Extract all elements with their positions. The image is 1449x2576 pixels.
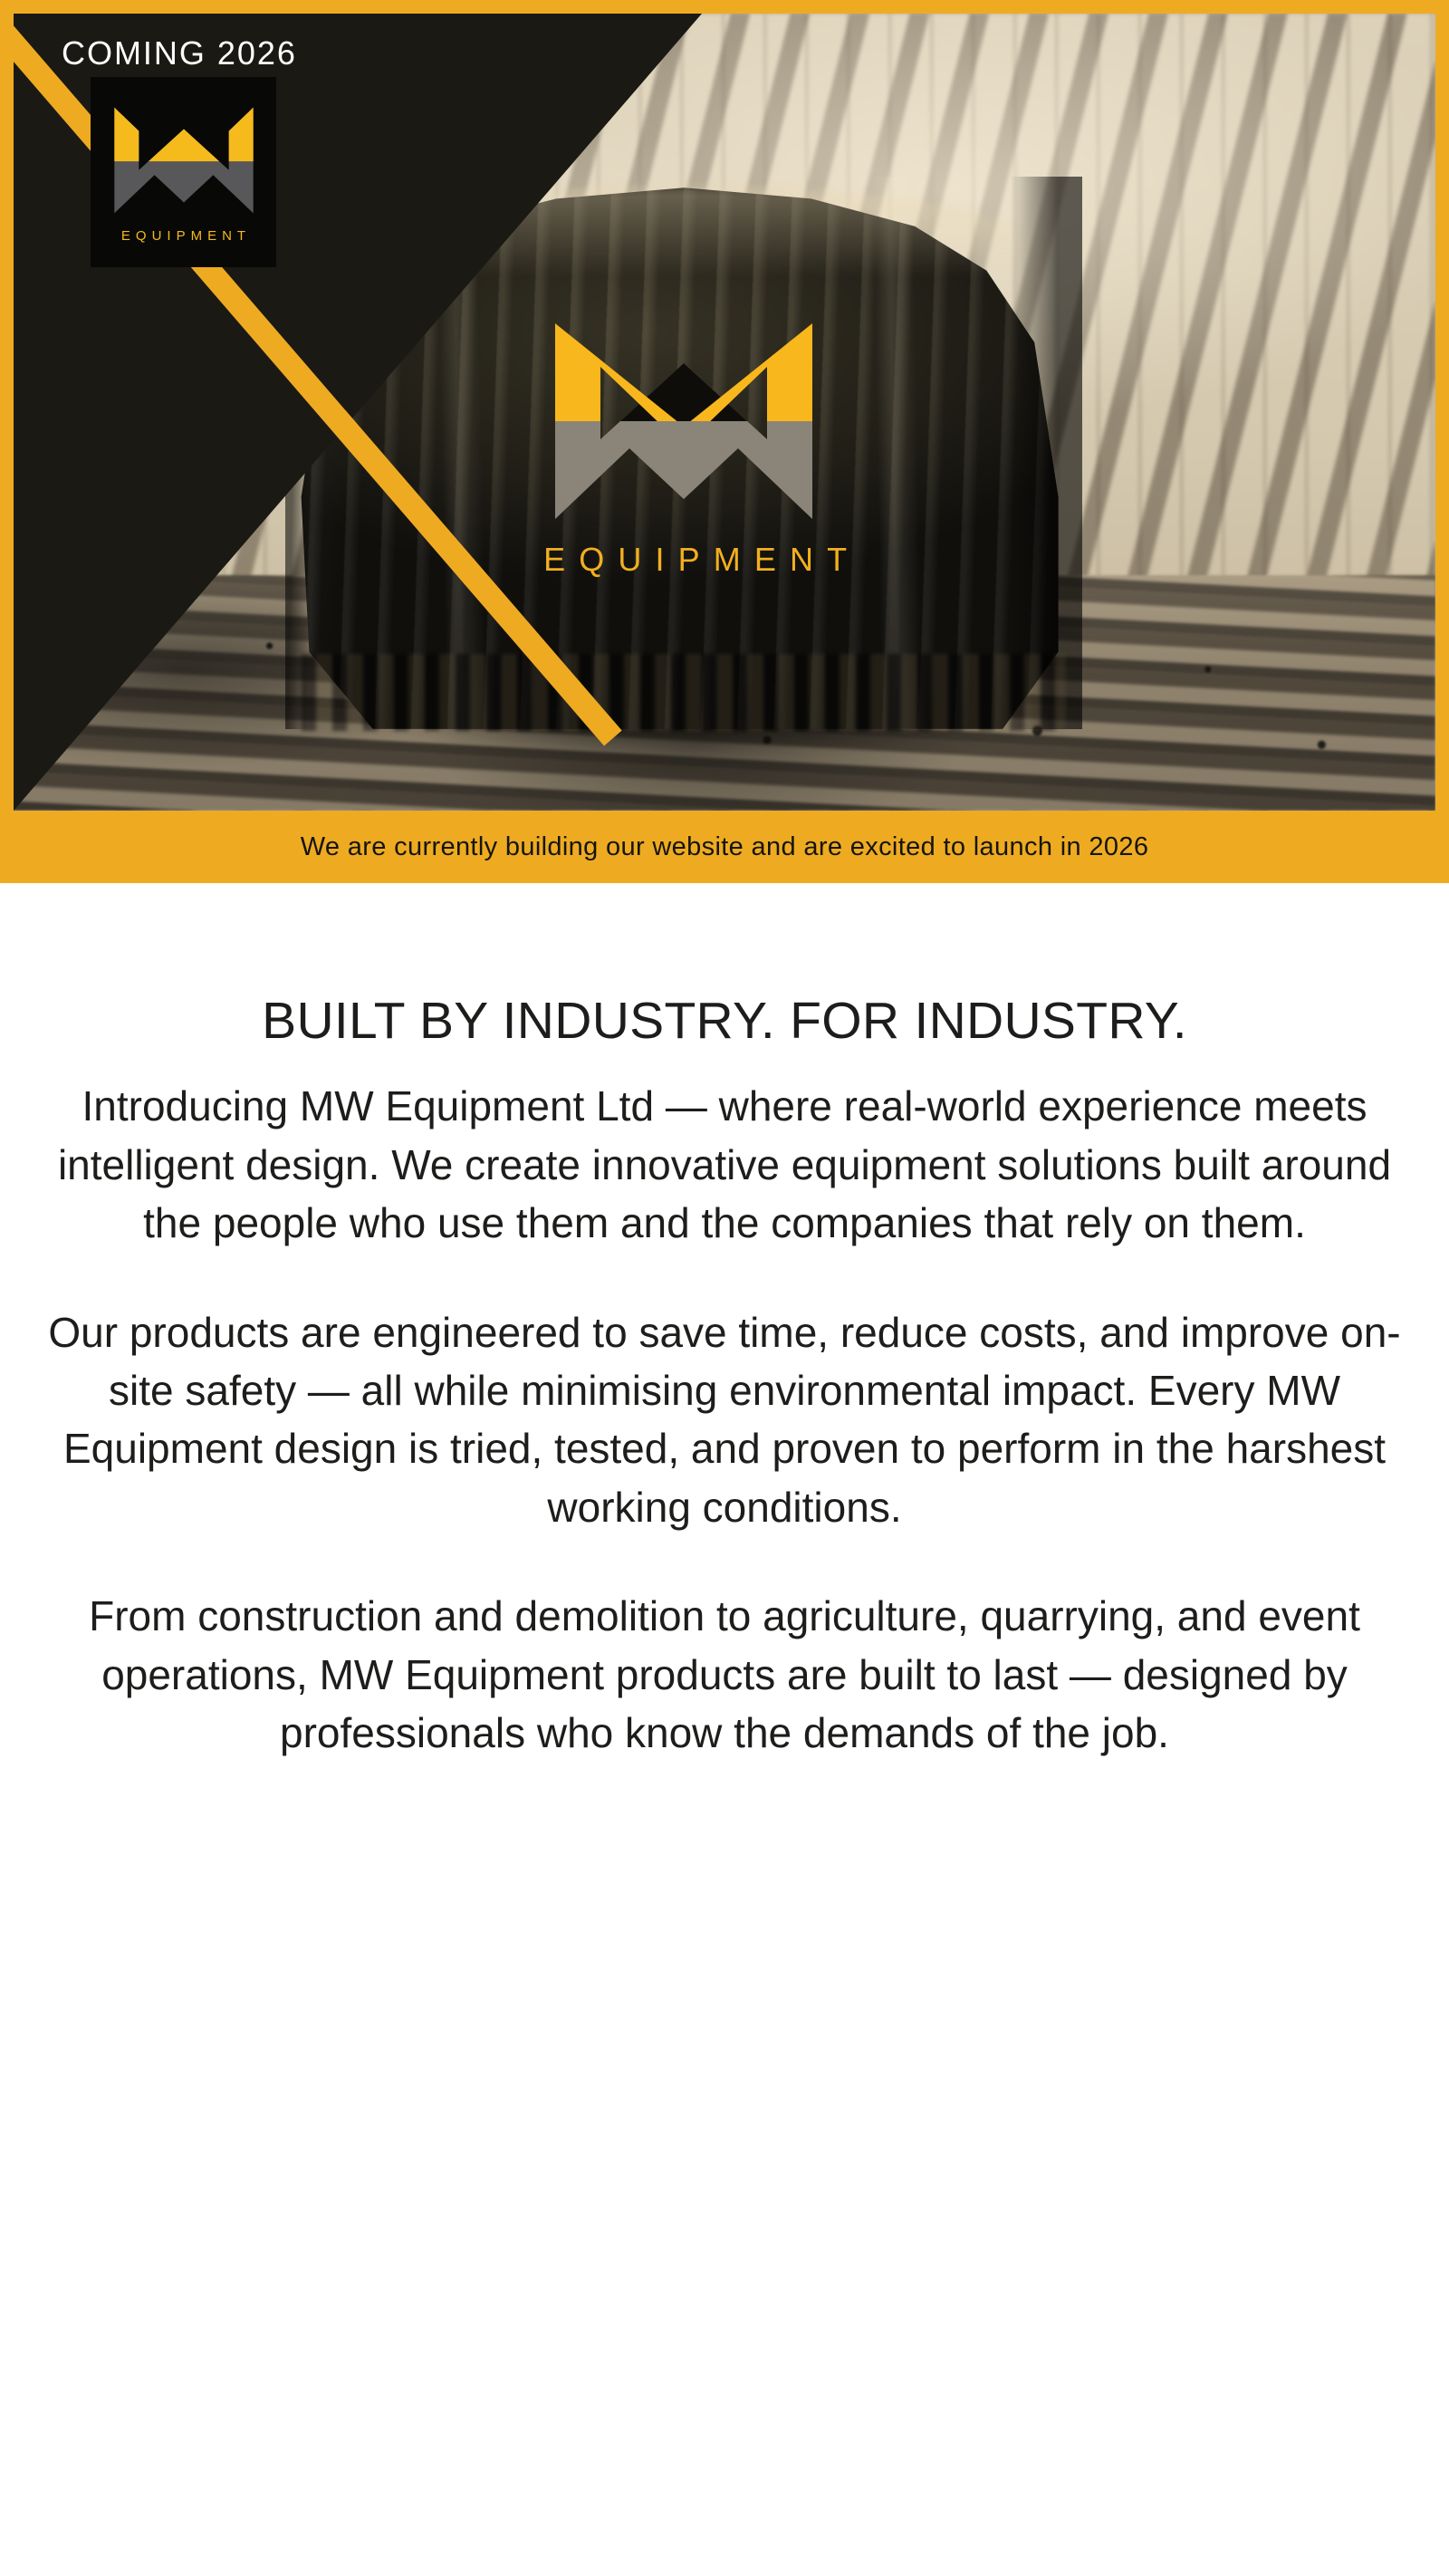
- main-content: BUILT BY INDUSTRY. FOR INDUSTRY. Introdu…: [0, 883, 1449, 2269]
- page-bottom-spacer: [36, 1762, 1413, 2269]
- brand-logo-wordmark: EQUIPMENT: [116, 228, 251, 244]
- drape-hem: [302, 654, 1067, 731]
- drape-logo: EQUIPMENT: [530, 312, 838, 579]
- paragraph-1: Introducing MW Equipment Ltd — where rea…: [36, 1077, 1413, 1252]
- intro-copy: Introducing MW Equipment Ltd — where rea…: [36, 1077, 1413, 1762]
- paragraph-3: From construction and demolition to agri…: [36, 1587, 1413, 1762]
- hero-section: EQUIPMENT COMING 2026 EQUIPMENT We are c…: [0, 0, 1449, 883]
- drape-logo-wordmark: EQUIPMENT: [530, 541, 838, 579]
- brand-logo: EQUIPMENT: [91, 77, 276, 267]
- mw-monogram-icon: [548, 312, 820, 530]
- paragraph-2: Our products are engineered to save time…: [36, 1303, 1413, 1537]
- launch-banner-text: We are currently building our website an…: [264, 832, 1185, 862]
- launch-banner: We are currently building our website an…: [0, 811, 1449, 883]
- coming-soon-label: COMING 2026: [62, 34, 297, 72]
- mw-monogram-icon: [110, 101, 257, 219]
- page-headline: BUILT BY INDUSTRY. FOR INDUSTRY.: [36, 990, 1413, 1052]
